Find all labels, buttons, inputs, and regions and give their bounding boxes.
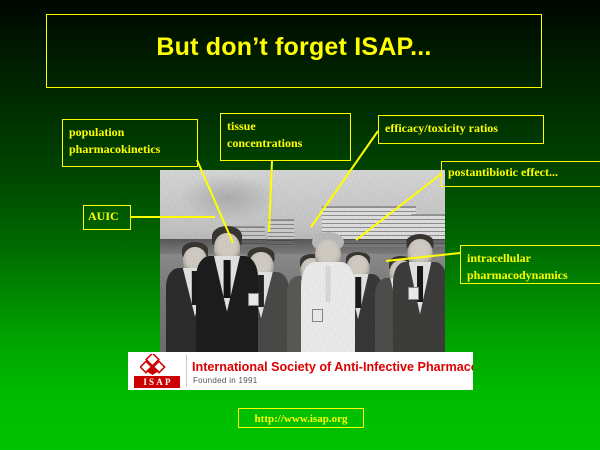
- page-title: But don’t forget ISAP...: [47, 33, 541, 62]
- isap-wordmark: ISAP: [134, 376, 180, 388]
- banner-subtitle: Founded in 1991: [193, 376, 258, 385]
- url-box[interactable]: http://www.isap.org: [238, 408, 364, 428]
- callout-postantibiotic-effect: postantibiotic effect...: [441, 161, 600, 187]
- title-box: But don’t forget ISAP...: [46, 14, 542, 88]
- isap-url-link[interactable]: http://www.isap.org: [255, 413, 348, 425]
- slide: But don’t forget ISAP...: [0, 0, 600, 450]
- group-photo: [160, 170, 445, 352]
- callout-intracellular-pharmacodynamics: intracellular pharmacodynamics: [460, 245, 600, 284]
- callout-population-pharmacokinetics: population pharmacokinetics: [62, 119, 198, 167]
- banner-title: International Society of Anti-Infective …: [192, 360, 473, 374]
- callout-tissue-concentrations: tissue concentrations: [220, 113, 351, 161]
- callout-efficacy-toxicity-ratios: efficacy/toxicity ratios: [378, 115, 544, 144]
- callout-auic: AUIC: [83, 205, 131, 230]
- banner-divider: [186, 355, 187, 387]
- isap-logo: ISAP: [134, 354, 180, 388]
- photo-grain: [160, 170, 445, 352]
- isap-banner: ISAP International Society of Anti-Infec…: [128, 352, 473, 390]
- diamond-logo-icon: [140, 354, 166, 376]
